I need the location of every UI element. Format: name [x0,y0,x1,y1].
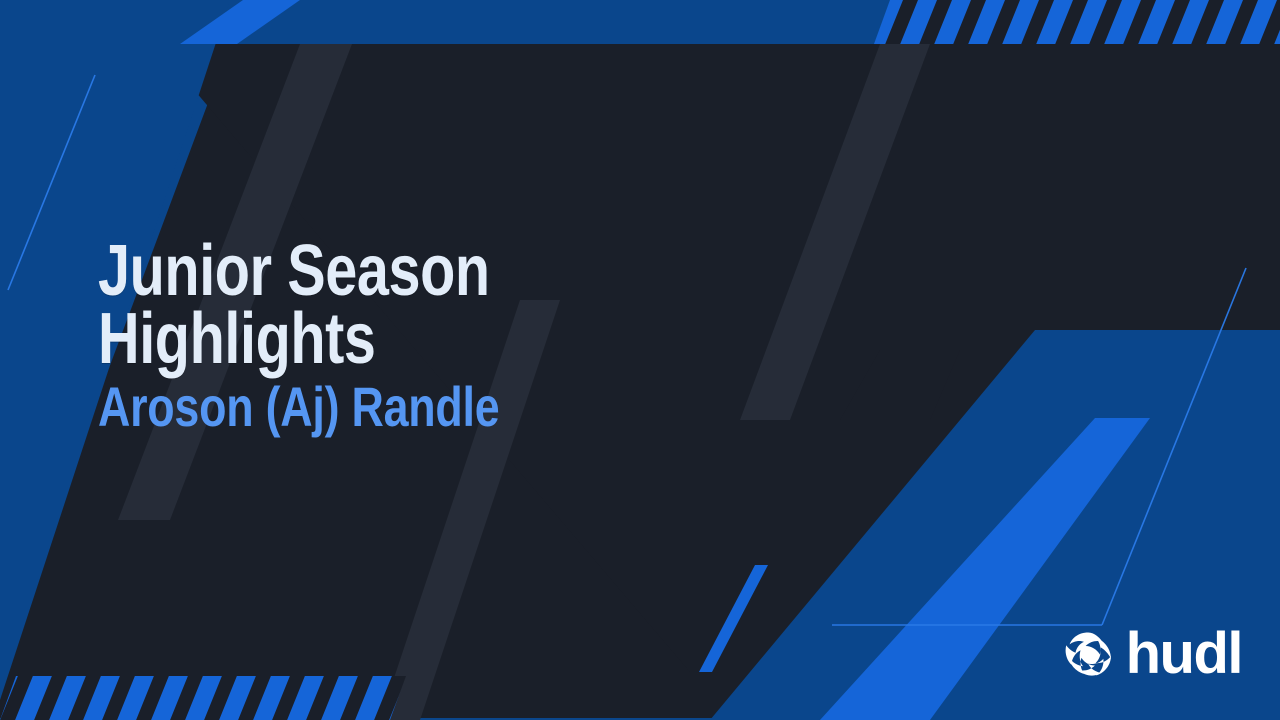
highlight-title-card: Junior Season Highlights Aroson (Aj) Ran… [0,0,1280,720]
title-block: Junior Season Highlights Aroson (Aj) Ran… [98,238,858,435]
headline-text: Junior Season Highlights [98,238,706,373]
hudl-wordmark: hudl [1126,625,1242,683]
hudl-logo: hudl [1062,628,1242,686]
athlete-name-text: Aroson (Aj) Randle [98,379,706,435]
hudl-mark-icon [1062,630,1116,684]
